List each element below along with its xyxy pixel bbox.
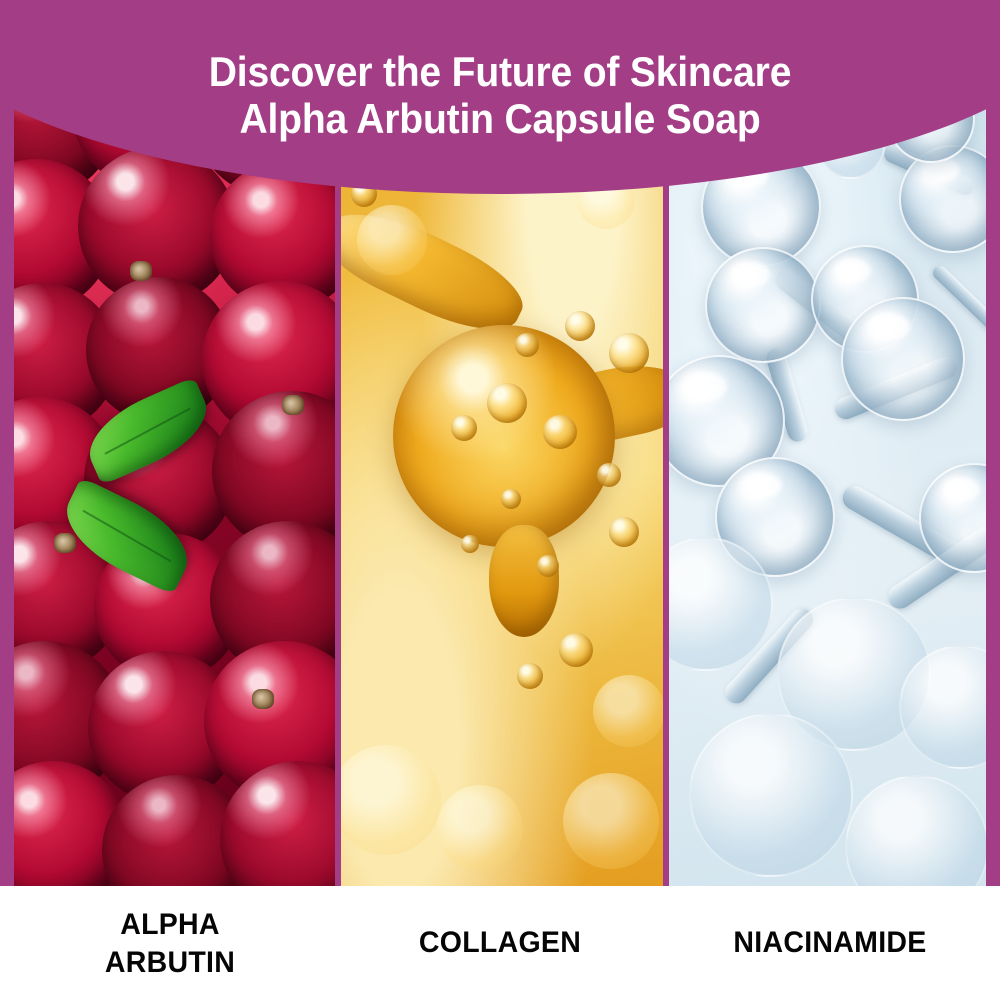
panel-image-collagen [341,85,663,886]
honey-bubble [501,489,521,509]
label-alpha-arbutin: ALPHA ARBUTIN [37,906,303,982]
page-title: Discover the Future of Skincare Alpha Ar… [35,48,965,142]
honey-blur-bubble [593,675,663,747]
ingredient-labels: ALPHA ARBUTIN COLLAGEN NIACINAMIDE [0,886,1000,1000]
cranberry-calyx [54,533,76,553]
label-alpha-arbutin-line-1: ALPHA [37,906,303,944]
honey-blur-bubble [357,205,427,275]
honey-bubble [517,663,543,689]
label-collagen-line-1: COLLAGEN [358,924,643,962]
honey-bubble [515,333,539,357]
page-title-line-1: Discover the Future of Skincare [35,48,965,95]
honey-blur-bubble [563,773,659,869]
label-alpha-arbutin-line-2: ARBUTIN [37,944,303,982]
label-niacinamide-line-1: NIACINAMIDE [688,924,973,962]
honey-bubble [609,333,649,373]
honey-bubble [487,383,527,423]
honey-bubble [461,535,479,553]
cranberry-calyx [252,689,274,709]
molecule-atom [841,297,965,421]
cranberry-calyx [282,395,304,415]
ingredient-image-band: Discover the Future of Skincare Alpha Ar… [0,0,1000,886]
honey-blur-bubble [437,785,523,871]
honey-bubble [559,633,593,667]
honey-bubble [609,517,639,547]
panel-image-alpha-arbutin [14,85,335,886]
honey-bubble [565,311,595,341]
honey-bubble [451,415,477,441]
label-collagen: COLLAGEN [358,924,643,962]
label-niacinamide: NIACINAMIDE [688,924,973,962]
honey-bubble [543,415,577,449]
honey-droplet [393,325,615,547]
page-title-line-2: Alpha Arbutin Capsule Soap [35,95,965,142]
molecule-atom [705,247,821,363]
molecule-atom-blurred [689,713,853,877]
skincare-poster: Discover the Future of Skincare Alpha Ar… [0,0,1000,1000]
panel-image-niacinamide [669,85,986,886]
honey-drip-tail [489,525,559,637]
cranberry-calyx [130,261,152,281]
honey-bubble [597,463,621,487]
honey-bubble [537,555,559,577]
